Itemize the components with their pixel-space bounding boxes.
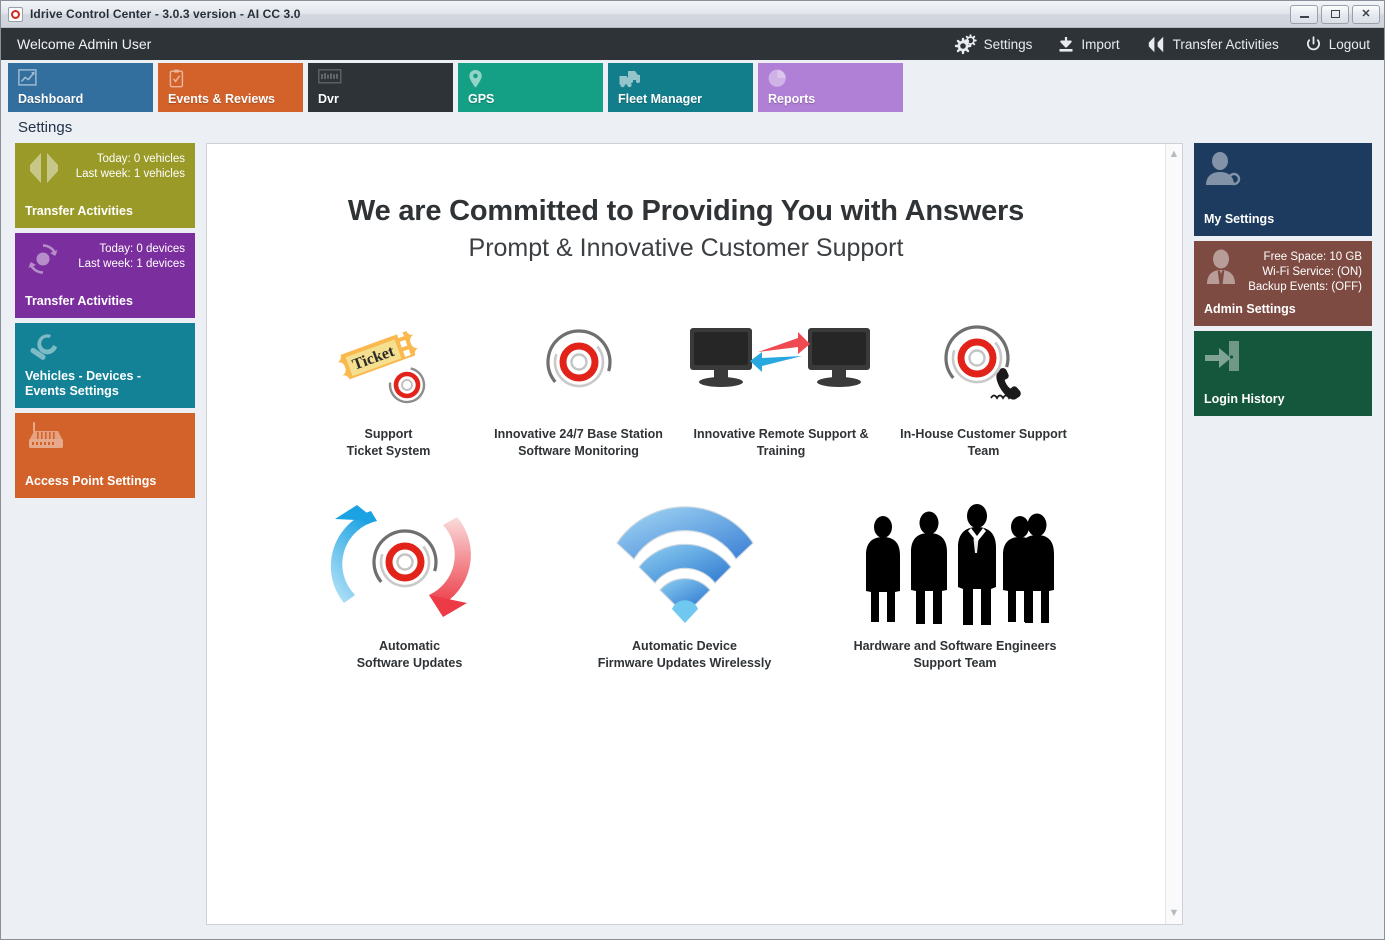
wrench-icon	[24, 331, 64, 372]
feature-caption: Support Ticket System	[347, 426, 431, 460]
application-window: Idrive Control Center - 3.0.3 version - …	[0, 0, 1385, 940]
caption-line: Software Monitoring	[494, 443, 663, 460]
tile-title: Login History	[1204, 392, 1362, 407]
login-door-icon	[1203, 339, 1241, 378]
welcome-message: Welcome Admin User	[17, 36, 151, 52]
tile-stat-line: Today: 0 vehicles	[25, 152, 185, 167]
breadcrumb: Settings	[1, 112, 1384, 143]
feature-support-ticket-system: Ticket Support	[294, 308, 484, 460]
auto-update-icon	[317, 498, 502, 628]
header-settings-button[interactable]: Settings	[956, 36, 1033, 53]
tile-title: Transfer Activities	[25, 204, 185, 219]
left-sidebar: Today: 0 vehicles Last week: 1 vehicles …	[15, 143, 195, 925]
tile-title: Admin Settings	[1204, 302, 1362, 317]
tile-stats: Free Space: 10 GB Wi-Fi Service: (ON) Ba…	[1204, 250, 1362, 295]
main-content-panel: We are Committed to Providing You with A…	[206, 143, 1183, 925]
dvr-icon	[318, 69, 344, 91]
gears-icon	[956, 36, 977, 53]
features-row-1: Ticket Support	[247, 308, 1125, 460]
caption-line: Training	[693, 443, 868, 460]
transfer-arrows-icon	[1146, 36, 1166, 53]
tile-title: Vehicles - Devices - Events Settings	[25, 369, 185, 399]
tile-title: Access Point Settings	[25, 474, 185, 489]
page-body: Today: 0 vehicles Last week: 1 vehicles …	[1, 143, 1384, 939]
header-settings-label: Settings	[984, 37, 1033, 52]
main-scroll-area: We are Committed to Providing You with A…	[207, 144, 1165, 924]
tile-access-point-settings[interactable]: Access Point Settings	[15, 413, 195, 498]
tile-my-settings[interactable]: My Settings	[1194, 143, 1372, 236]
tile-login-history[interactable]: Login History	[1194, 331, 1372, 416]
feature-inhouse-support-team: In-House Customer Support Team	[889, 308, 1079, 460]
feature-automatic-software-updates: Automatic Software Updates	[302, 498, 517, 672]
header-transfer-label: Transfer Activities	[1173, 37, 1279, 52]
header-logout-label: Logout	[1329, 37, 1370, 52]
tile-stat-line: Today: 0 devices	[25, 242, 185, 257]
tile-title: Transfer Activities	[25, 294, 185, 309]
caption-line: Ticket System	[347, 443, 431, 460]
chart-line-icon	[18, 69, 39, 93]
tab-gps[interactable]: GPS	[458, 63, 603, 112]
feature-caption: Innovative Remote Support & Training	[693, 426, 868, 460]
header-import-label: Import	[1081, 37, 1119, 52]
tab-dashboard[interactable]: Dashboard	[8, 63, 153, 112]
close-icon: ✕	[1361, 9, 1370, 20]
caption-line: Automatic	[357, 638, 463, 655]
target-phone-icon	[929, 308, 1039, 416]
header-actions: Settings Import Transf	[956, 36, 1370, 53]
remote-monitors-icon	[686, 308, 876, 416]
feature-base-station-monitoring: Innovative 24/7 Base Station Software Mo…	[484, 308, 674, 460]
page-subheadline: Prompt & Innovative Customer Support	[247, 230, 1125, 266]
window-title: Idrive Control Center - 3.0.3 version - …	[30, 7, 301, 21]
tab-reports-label: Reports	[768, 92, 815, 106]
support-ticket-icon: Ticket	[333, 308, 445, 416]
tile-stats: Today: 0 devices Last week: 1 devices	[25, 242, 185, 272]
header-transfer-activities-button[interactable]: Transfer Activities	[1146, 36, 1279, 53]
feature-remote-support-training: Innovative Remote Support & Training	[674, 308, 889, 460]
caption-line: Innovative Remote Support &	[693, 426, 868, 443]
tile-stat-line: Free Space: 10 GB	[1204, 250, 1362, 265]
tab-fleet-manager[interactable]: Fleet Manager	[608, 63, 753, 112]
tile-transfer-activities-devices[interactable]: Today: 0 devices Last week: 1 devices Tr…	[15, 233, 195, 318]
feature-caption: Automatic Device Firmware Updates Wirele…	[598, 638, 772, 672]
router-icon	[24, 421, 70, 460]
tile-transfer-activities-vehicles[interactable]: Today: 0 vehicles Last week: 1 vehicles …	[15, 143, 195, 228]
header-bar: Welcome Admin User	[1, 28, 1384, 60]
wifi-icon	[610, 498, 760, 628]
scroll-down-icon[interactable]: ▼	[1169, 908, 1180, 919]
caption-line: In-House Customer Support	[900, 426, 1067, 443]
breadcrumb-label: Settings	[18, 119, 72, 136]
tile-stat-line: Last week: 1 devices	[25, 257, 185, 272]
maximize-button[interactable]	[1321, 5, 1349, 24]
tab-events-reviews[interactable]: Events & Reviews	[158, 63, 303, 112]
pie-chart-icon	[768, 69, 787, 93]
power-icon	[1305, 36, 1322, 53]
caption-line: Software Updates	[357, 655, 463, 672]
tile-stat-line: Last week: 1 vehicles	[25, 167, 185, 182]
tab-fleet-manager-label: Fleet Manager	[618, 92, 702, 106]
target-monitor-icon	[529, 308, 629, 416]
minimize-button[interactable]	[1290, 5, 1318, 24]
close-button[interactable]: ✕	[1352, 5, 1380, 24]
tile-vehicles-devices-events-settings[interactable]: Vehicles - Devices - Events Settings	[15, 323, 195, 408]
tab-events-reviews-label: Events & Reviews	[168, 92, 275, 106]
caption-line: Support Team	[854, 655, 1057, 672]
feature-caption: Automatic Software Updates	[357, 638, 463, 672]
caption-line: Firmware Updates Wirelessly	[598, 655, 772, 672]
window-controls: ✕	[1290, 5, 1380, 24]
caption-line: Support	[347, 426, 431, 443]
tab-reports[interactable]: Reports	[758, 63, 903, 112]
feature-caption: Innovative 24/7 Base Station Software Mo…	[494, 426, 663, 460]
feature-caption: Hardware and Software Engineers Support …	[854, 638, 1057, 672]
support-overview: We are Committed to Providing You with A…	[207, 144, 1165, 672]
target-icon	[8, 7, 23, 22]
tab-dvr[interactable]: Dvr	[308, 63, 453, 112]
caption-line: Innovative 24/7 Base Station	[494, 426, 663, 443]
tile-admin-settings[interactable]: Free Space: 10 GB Wi-Fi Service: (ON) Ba…	[1194, 241, 1372, 326]
title-bar: Idrive Control Center - 3.0.3 version - …	[1, 1, 1384, 28]
user-gear-icon	[1203, 151, 1243, 194]
tile-stats: Today: 0 vehicles Last week: 1 vehicles	[25, 152, 185, 182]
feature-hw-sw-engineers-team: Hardware and Software Engineers Support …	[840, 498, 1070, 672]
caption-line: Automatic Device	[598, 638, 772, 655]
right-sidebar: My Settings Free Space: 10 GB Wi-Fi Serv…	[1194, 143, 1372, 925]
page-headline: We are Committed to Providing You with A…	[247, 192, 1125, 230]
feature-firmware-updates-wireless: Automatic Device Firmware Updates Wirele…	[577, 498, 792, 672]
map-pin-icon	[468, 69, 483, 94]
tab-gps-label: GPS	[468, 92, 494, 106]
main-navigation: Dashboard Events & Reviews	[1, 60, 1384, 112]
team-silhouette-icon	[855, 498, 1055, 628]
tab-dashboard-label: Dashboard	[18, 92, 83, 106]
vehicles-icon	[618, 69, 644, 93]
caption-line: Team	[900, 443, 1067, 460]
tile-stat-line: Backup Events: (OFF)	[1204, 280, 1362, 295]
clipboard-check-icon	[168, 69, 186, 94]
header-import-button[interactable]: Import	[1058, 36, 1119, 53]
scroll-up-icon[interactable]: ▲	[1169, 149, 1180, 160]
tile-title: My Settings	[1204, 212, 1362, 227]
header-logout-button[interactable]: Logout	[1305, 36, 1370, 53]
tile-stat-line: Wi-Fi Service: (ON)	[1204, 265, 1362, 280]
main-vertical-scrollbar[interactable]: ▲ ▼	[1165, 144, 1182, 924]
tab-dvr-label: Dvr	[318, 92, 339, 106]
features-row-2: Automatic Software Updates	[247, 498, 1125, 672]
feature-caption: In-House Customer Support Team	[900, 426, 1067, 460]
caption-line: Hardware and Software Engineers	[854, 638, 1057, 655]
download-icon	[1058, 36, 1074, 53]
